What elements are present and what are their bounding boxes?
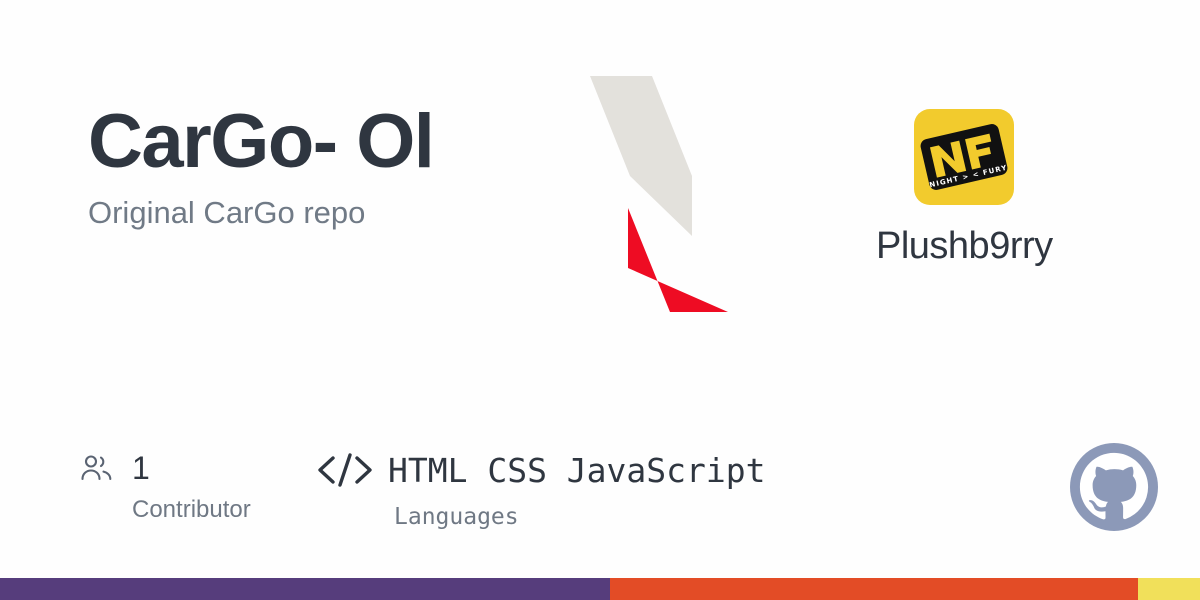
repo-social-card: CarGo- Ol Original CarGo repo NIGHT > < … — [0, 0, 1200, 600]
emblem-red-slash — [628, 208, 728, 312]
language-segment-html — [610, 578, 1138, 600]
stat-languages: HTML CSS JavaScript Languages — [316, 450, 766, 530]
languages-value: HTML CSS JavaScript — [388, 454, 766, 487]
repo-description: Original CarGo repo — [88, 196, 433, 230]
language-segment-javascript — [1138, 578, 1200, 600]
owner-username: Plushb9rry — [876, 225, 1053, 268]
emblem-gray-slash — [590, 76, 692, 236]
diagonal-slash-emblem-icon — [560, 60, 760, 330]
owner-block[interactable]: NIGHT > < FURY Plushb9rry — [876, 109, 1053, 268]
title-block: CarGo- Ol Original CarGo repo — [88, 104, 433, 230]
github-octocat-icon — [1070, 443, 1158, 531]
language-bar — [0, 578, 1200, 600]
page-title: CarGo- Ol — [88, 104, 433, 180]
nightfury-nf-logo-icon: NIGHT > < FURY — [919, 123, 1009, 192]
contributor-count: 1 — [132, 452, 150, 484]
avatar[interactable]: NIGHT > < FURY — [914, 109, 1014, 205]
stat-contributors: 1 Contributor — [80, 452, 251, 524]
contributor-label: Contributor — [132, 496, 251, 524]
code-brackets-icon — [316, 450, 374, 490]
language-segment-css — [0, 578, 610, 600]
languages-label: Languages — [394, 504, 766, 530]
people-icon — [80, 453, 114, 483]
